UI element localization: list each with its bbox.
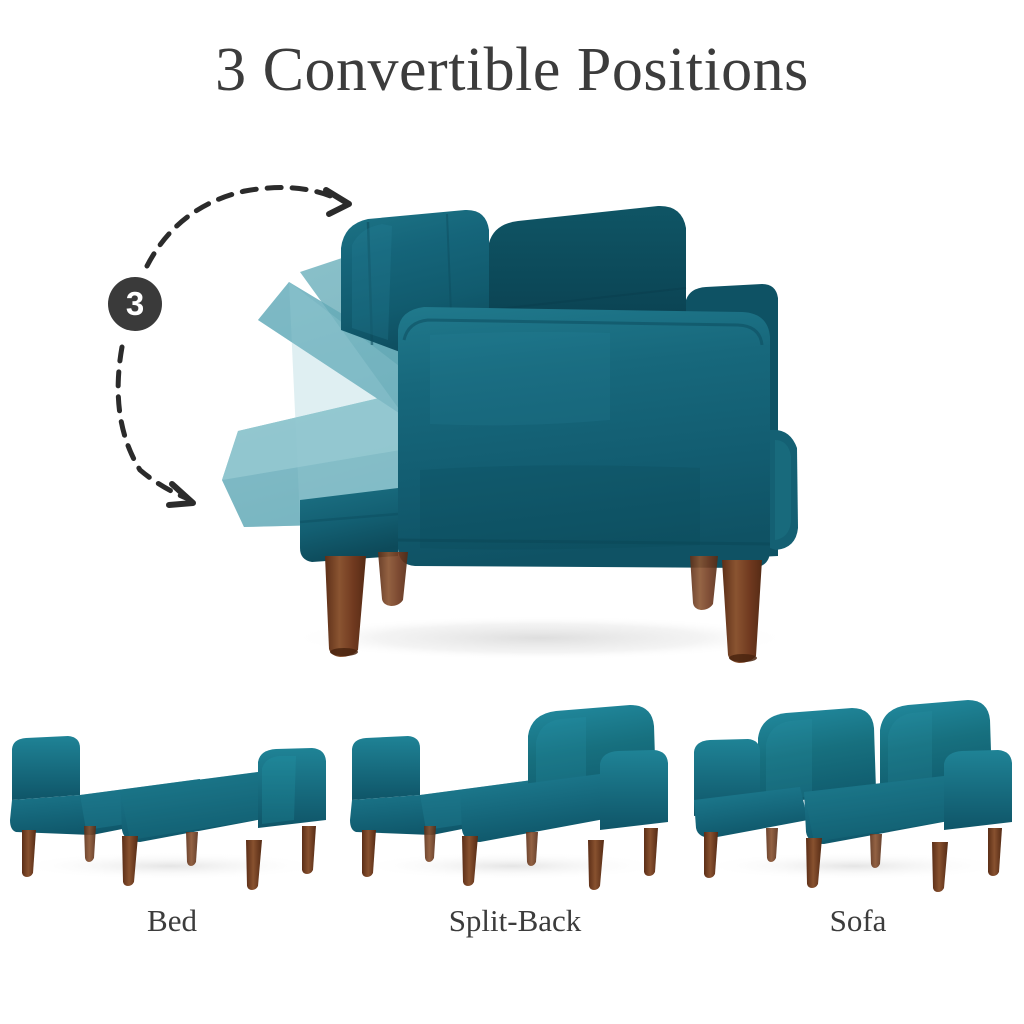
position-thumbnails xyxy=(0,0,1024,1024)
ghost-cushion-flat xyxy=(222,392,418,527)
sofa-legs xyxy=(325,552,762,663)
leg-front-right xyxy=(722,560,762,663)
leg-rear-left xyxy=(378,552,408,606)
hero-illustration xyxy=(0,0,1024,1024)
rear-back-panel-right xyxy=(489,206,686,338)
sofa-side-arm-panel xyxy=(398,307,770,568)
fold-motion-arrows xyxy=(0,0,1024,1024)
sofa-right-bolster xyxy=(770,430,798,550)
fold-arrow-bottom-head xyxy=(169,484,193,505)
leg-front-left xyxy=(325,556,366,657)
step-number-text: 3 xyxy=(126,287,144,320)
step-number-badge: 3 xyxy=(108,277,162,331)
thumbnail-label-sofa: Sofa xyxy=(743,903,973,939)
hero-floor-shadow xyxy=(290,616,790,660)
thumbnail-bed xyxy=(10,736,326,890)
sofa-rear-panel xyxy=(686,284,778,560)
ghost-positions xyxy=(222,258,470,527)
ghost-sweep xyxy=(289,282,470,520)
thumbnail-label-splitback: Split-Back xyxy=(400,903,630,939)
rear-backrest xyxy=(341,210,489,352)
thumbnail-splitback xyxy=(350,705,668,890)
sofa-seat-front xyxy=(300,488,398,562)
fold-arrow-top-head xyxy=(326,190,349,214)
fold-arrow-top xyxy=(147,188,340,266)
page-title: 3 Convertible Positions xyxy=(0,38,1024,103)
thumbnail-label-bed: Bed xyxy=(57,903,287,939)
thumbnail-sofa xyxy=(694,700,1012,892)
ghost-backrest-steep xyxy=(300,258,470,452)
ghost-backrest-mid xyxy=(258,282,460,440)
leg-rear-right xyxy=(690,556,718,610)
fold-arrow-bottom xyxy=(118,347,186,498)
infographic-canvas: 3 Convertible Positions xyxy=(0,0,1024,1024)
